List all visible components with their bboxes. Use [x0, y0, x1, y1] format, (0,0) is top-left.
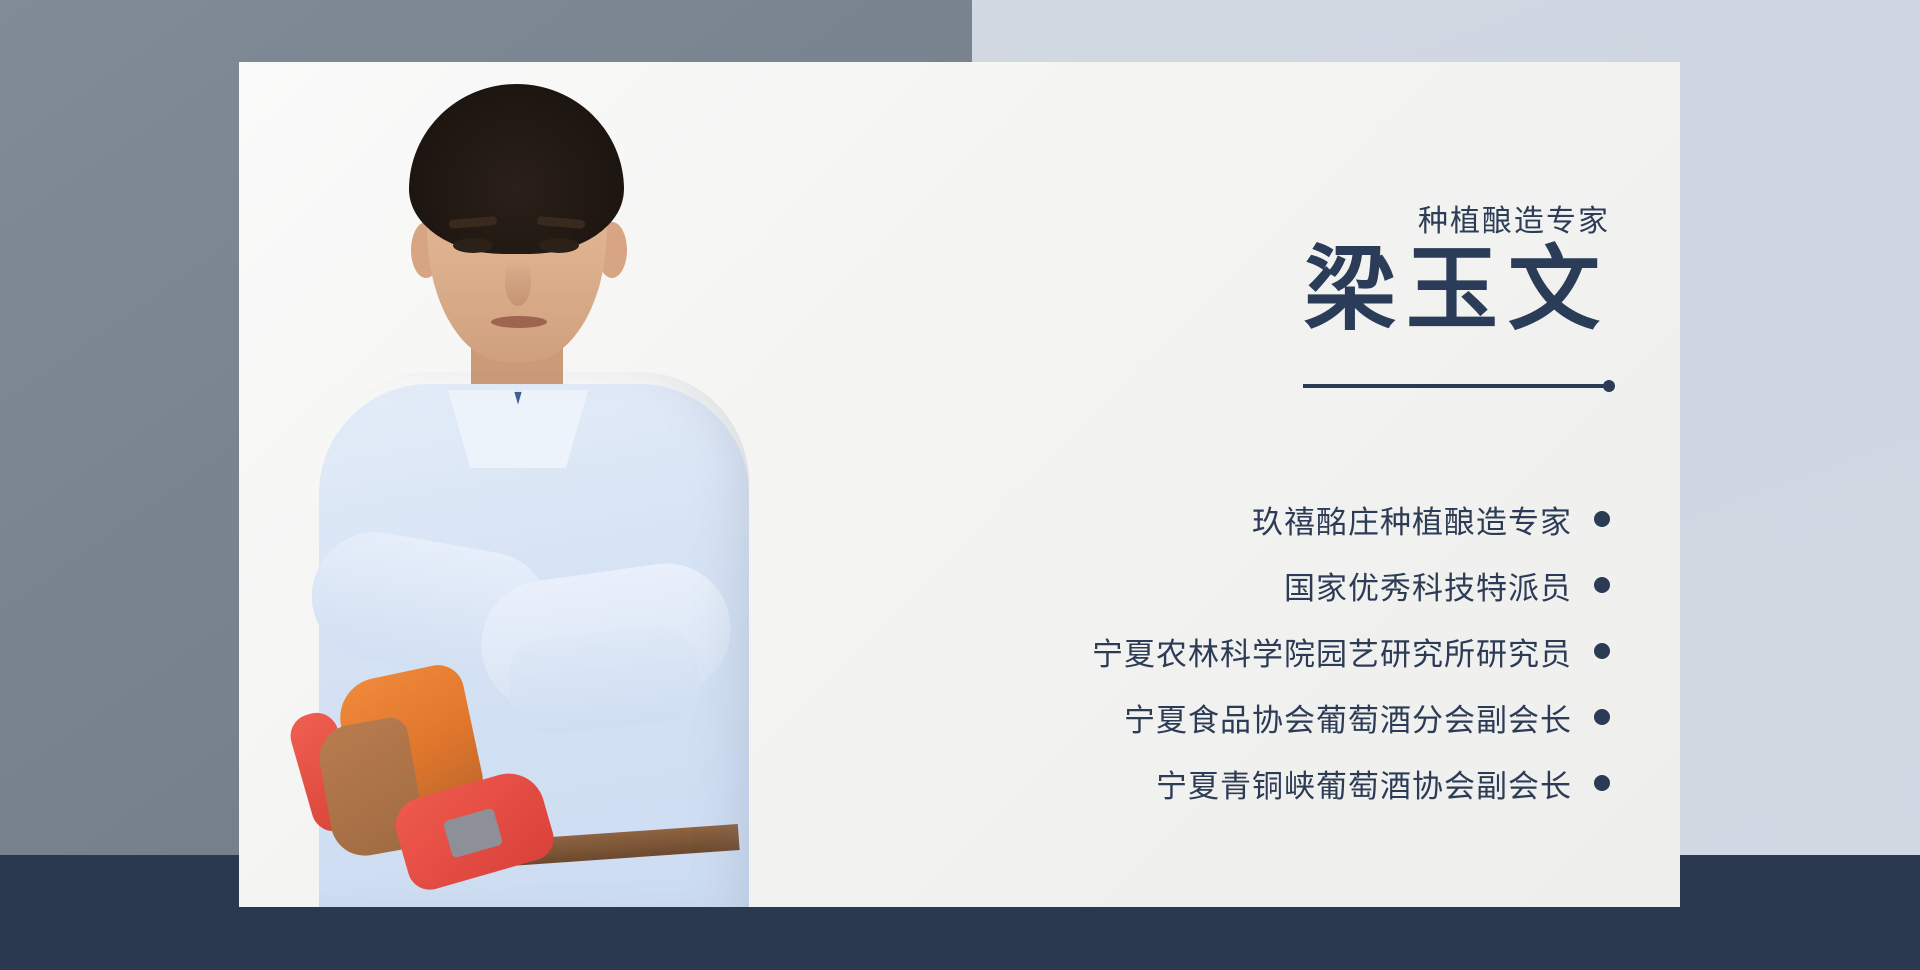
portrait-hair [409, 84, 624, 254]
list-item: 宁夏食品协会葡萄酒分会副会长 [1092, 684, 1610, 750]
portrait-eye-left [453, 238, 493, 253]
bullet-dot-icon [1594, 709, 1610, 725]
credential-label: 宁夏食品协会葡萄酒分会副会长 [1124, 695, 1572, 740]
portrait-mouth [491, 316, 547, 328]
credentials-list: 玖禧酩庄种植酿造专家 国家优秀科技特派员 宁夏农林科学院园艺研究所研究员 宁夏食… [1092, 486, 1610, 816]
portrait-eye-right [539, 238, 579, 253]
credential-label: 国家优秀科技特派员 [1284, 563, 1572, 608]
profile-banner: 种植酿造专家 梁玉文 玖禧酩庄种植酿造专家 国家优秀科技特派员 宁夏农林科学院园… [0, 0, 1920, 970]
profile-text-column: 种植酿造专家 梁玉文 玖禧酩庄种植酿造专家 国家优秀科技特派员 宁夏农林科学院园… [910, 62, 1610, 907]
list-item: 宁夏青铜峡葡萄酒协会副会长 [1092, 750, 1610, 816]
background-navy-right-block [1680, 858, 1920, 970]
list-item: 国家优秀科技特派员 [1092, 552, 1610, 618]
credential-label: 玖禧酩庄种植酿造专家 [1252, 497, 1572, 542]
portrait-nose [505, 260, 531, 306]
credential-label: 宁夏青铜峡葡萄酒协会副会长 [1156, 761, 1572, 806]
list-item: 玖禧酩庄种植酿造专家 [1092, 486, 1610, 552]
bullet-dot-icon [1594, 511, 1610, 527]
list-item: 宁夏农林科学院园艺研究所研究员 [1092, 618, 1610, 684]
profile-name: 梁玉文 [1304, 242, 1610, 340]
profile-subtitle: 种植酿造专家 [1418, 196, 1610, 240]
bullet-dot-icon [1594, 577, 1610, 593]
bullet-dot-icon [1594, 775, 1610, 791]
credential-label: 宁夏农林科学院园艺研究所研究员 [1092, 629, 1572, 674]
divider-rule [1303, 384, 1610, 388]
portrait-figure [259, 72, 819, 907]
bullet-dot-icon [1594, 643, 1610, 659]
profile-card: 种植酿造专家 梁玉文 玖禧酩庄种植酿造专家 国家优秀科技特派员 宁夏农林科学院园… [239, 62, 1680, 907]
portrait-photo [239, 62, 859, 907]
